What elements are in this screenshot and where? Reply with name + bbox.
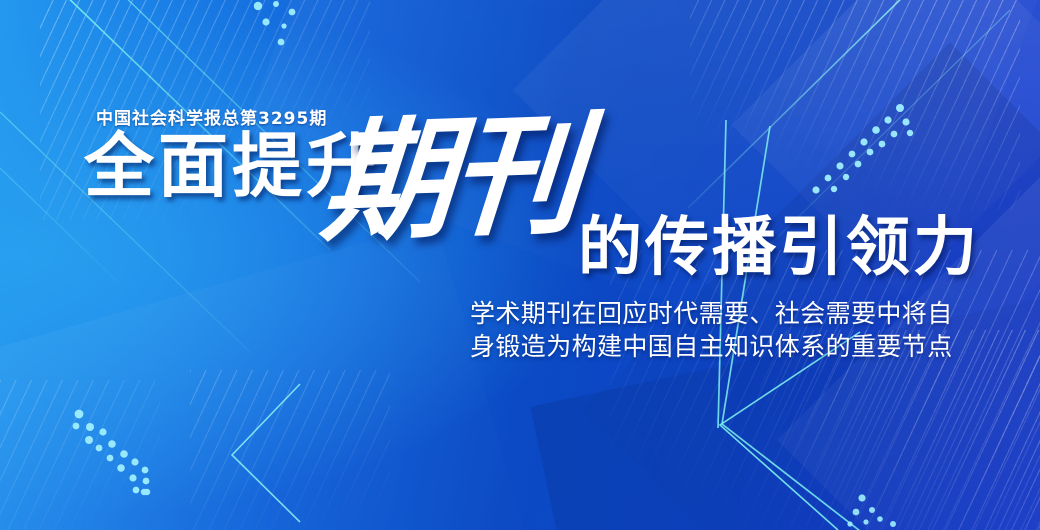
dots-top-center	[254, 1, 296, 45]
title-part-3: 的传播引领力	[578, 216, 980, 280]
title-part-2-brush: 期刊	[317, 109, 583, 250]
subtitle-line-1: 学术期刊在回应时代需要、社会需要中将自	[470, 297, 975, 330]
dots-bottom-left	[73, 410, 151, 496]
issue-kicker: 中国社会科学报总第3295期	[96, 104, 327, 129]
subtitle-line-2: 身锻造为构建中国自主知识体系的重要节点	[470, 330, 975, 363]
news-banner: 中国社会科学报总第3295期 全面提升 期刊 的传播引领力 学术期刊在回应时代需…	[0, 0, 1040, 530]
dots-top-right	[812, 104, 913, 194]
chevron-right-small	[232, 384, 300, 522]
subtitle: 学术期刊在回应时代需要、社会需要中将自 身锻造为构建中国自主知识体系的重要节点	[470, 297, 975, 363]
dots-bottom-right	[847, 494, 896, 527]
